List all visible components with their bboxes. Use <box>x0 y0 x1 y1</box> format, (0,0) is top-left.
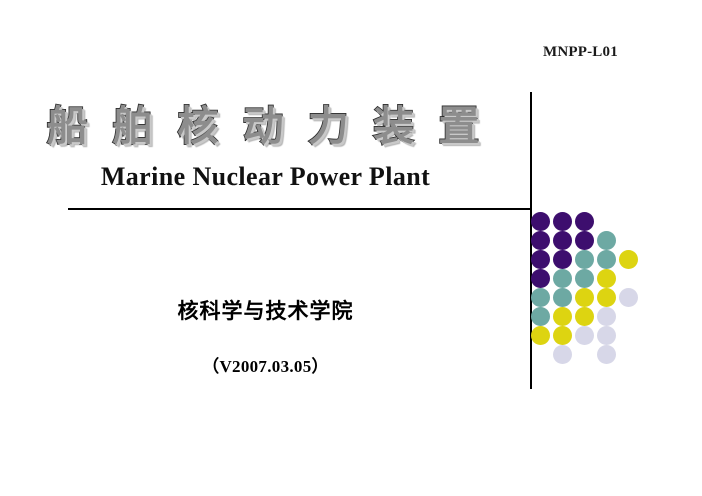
dot-matrix-cell <box>553 231 572 250</box>
dot-matrix-cell <box>597 269 616 288</box>
document-code: MNPP-L01 <box>543 44 618 61</box>
dot-matrix-cell <box>575 250 594 269</box>
dot-matrix-cell <box>553 250 572 269</box>
dot-matrix-cell <box>531 231 550 250</box>
dot-matrix-cell <box>575 212 594 231</box>
dot-matrix-cell <box>619 288 638 307</box>
horizontal-divider-rule <box>68 208 532 210</box>
dot-matrix-cell <box>531 269 550 288</box>
dot-matrix-cell <box>597 288 616 307</box>
page-title-english: Marine Nuclear Power Plant <box>0 160 531 194</box>
dot-matrix-cell <box>575 307 594 326</box>
dot-matrix-cell <box>531 288 550 307</box>
dot-matrix-cell <box>553 326 572 345</box>
dot-matrix-cell <box>597 231 616 250</box>
dot-matrix-cell <box>575 288 594 307</box>
dot-matrix-cell <box>553 269 572 288</box>
dot-matrix-cell <box>575 326 594 345</box>
dot-matrix-cell <box>597 307 616 326</box>
dot-matrix-cell <box>575 231 594 250</box>
dot-matrix-cell <box>597 345 616 364</box>
dot-matrix-cell <box>553 288 572 307</box>
dot-matrix-cell <box>531 212 550 231</box>
presentation-title-slide: MNPP-L01 船 舶 核 动 力 装 置 Marine Nuclear Po… <box>0 0 702 496</box>
dot-matrix-cell <box>597 326 616 345</box>
version-label: （V2007.03.05） <box>0 352 531 377</box>
dot-matrix-cell <box>619 250 638 269</box>
dot-matrix-cell <box>553 345 572 364</box>
dot-matrix-cell <box>553 307 572 326</box>
organization-name: 核科学与技术学院 <box>0 295 531 325</box>
dot-matrix-logo <box>531 212 651 372</box>
dot-matrix-cell <box>575 269 594 288</box>
page-title-chinese: 船 舶 核 动 力 装 置 <box>0 100 531 152</box>
dot-matrix-cell <box>597 250 616 269</box>
dot-matrix-cell <box>553 212 572 231</box>
dot-matrix-cell <box>531 307 550 326</box>
dot-matrix-cell <box>531 250 550 269</box>
dot-matrix-cell <box>531 326 550 345</box>
